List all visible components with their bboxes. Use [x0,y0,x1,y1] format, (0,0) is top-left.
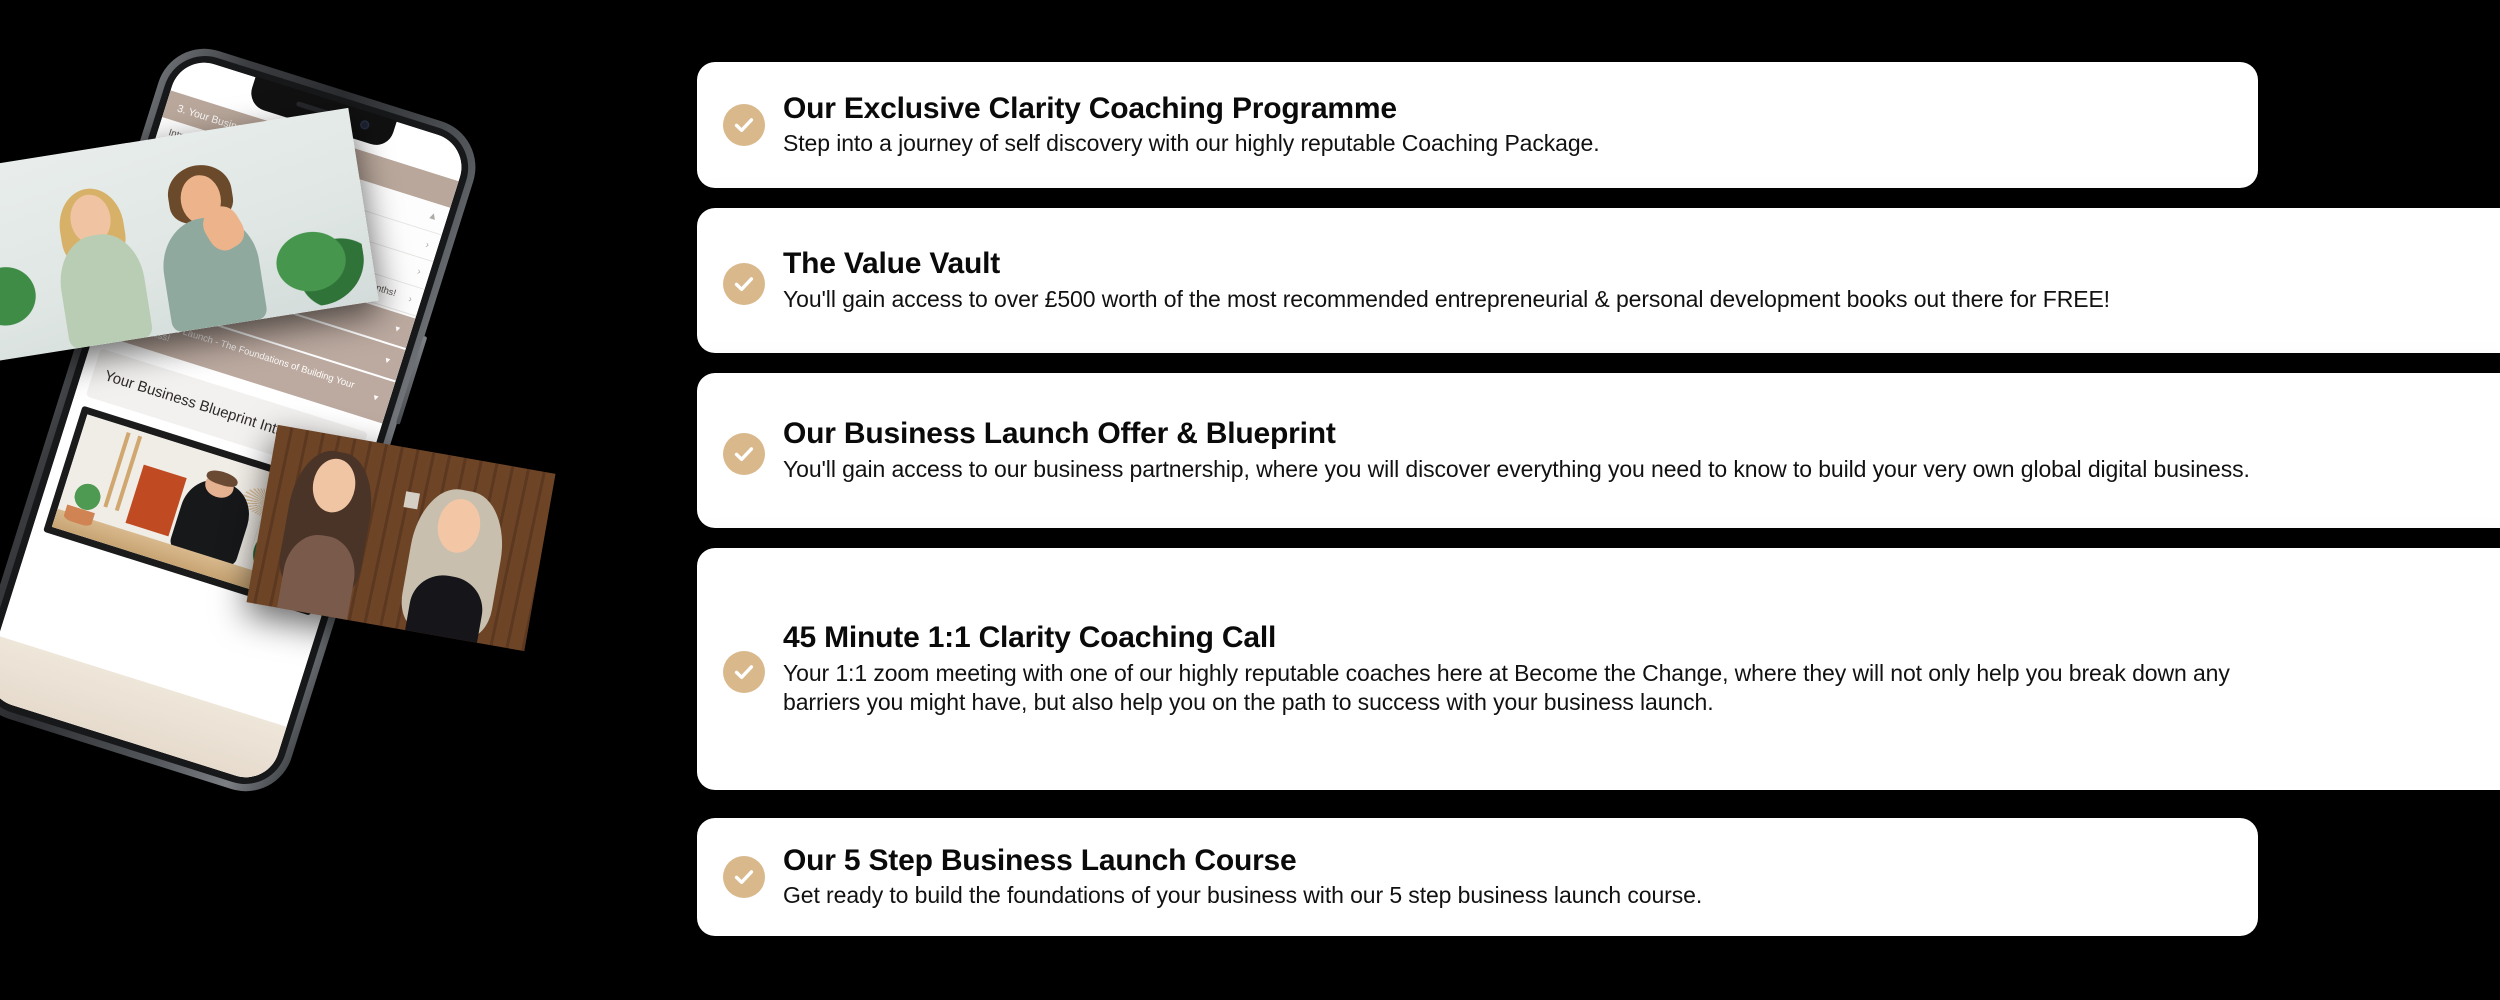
benefit-card[interactable]: 45 Minute 1:1 Clarity Coaching Call Your… [697,548,2500,790]
product-mockup-collage: 3. Your Business Blueprint Introducing o… [0,0,720,1000]
promo-banner: 3. Your Business Blueprint Introducing o… [0,0,2500,1000]
benefit-text: The Value Vault You'll gain access to ov… [783,247,2500,314]
check-circle-icon [723,104,765,146]
benefits-list: Our Exclusive Clarity Coaching Programme… [697,0,2500,1000]
chevron-right-icon: › [407,293,414,305]
app-footer-strip [0,636,287,786]
plant-decor [0,248,48,345]
check-circle-icon [723,856,765,898]
wall-switch [404,491,421,509]
benefit-description: Get ready to build the foundations of yo… [783,881,2238,910]
benefit-text: 45 Minute 1:1 Clarity Coaching Call Your… [783,621,2500,717]
benefit-title: Our 5 Step Business Launch Course [783,844,2238,879]
caret-down-icon: ▼ [370,393,380,405]
benefit-text: Our Business Launch Offer & Blueprint Yo… [783,417,2500,484]
check-circle-icon [723,263,765,305]
plant-decor [261,209,370,313]
benefit-text: Our Exclusive Clarity Coaching Programme… [783,92,2258,159]
benefit-description: You'll gain access to over £500 worth of… [783,285,2273,314]
benefit-card[interactable]: Our 5 Step Business Launch Course Get re… [697,818,2258,936]
caret-down-icon: ▼ [392,324,402,336]
chevron-right-icon: › [415,266,422,278]
benefit-description: Step into a journey of self discovery wi… [783,129,2238,158]
benefit-text: Our 5 Step Business Launch Course Get re… [783,844,2258,911]
caret-up-icon: ▲ [426,210,439,224]
benefit-card[interactable]: Our Exclusive Clarity Coaching Programme… [697,62,2258,188]
benefit-title: Our Exclusive Clarity Coaching Programme [783,92,2238,127]
check-circle-icon [723,651,765,693]
benefit-title: 45 Minute 1:1 Clarity Coaching Call [783,621,2480,656]
benefit-card[interactable]: The Value Vault You'll gain access to ov… [697,208,2500,353]
benefit-description: Your 1:1 zoom meeting with one of our hi… [783,659,2273,717]
caret-down-icon: ▼ [382,355,392,367]
benefit-card[interactable]: Our Business Launch Offer & Blueprint Yo… [697,373,2500,528]
benefit-title: The Value Vault [783,247,2480,282]
benefit-title: Our Business Launch Offer & Blueprint [783,417,2480,452]
chevron-right-icon: › [424,239,431,251]
check-circle-icon [723,433,765,475]
benefit-description: You'll gain access to our business partn… [783,455,2273,484]
